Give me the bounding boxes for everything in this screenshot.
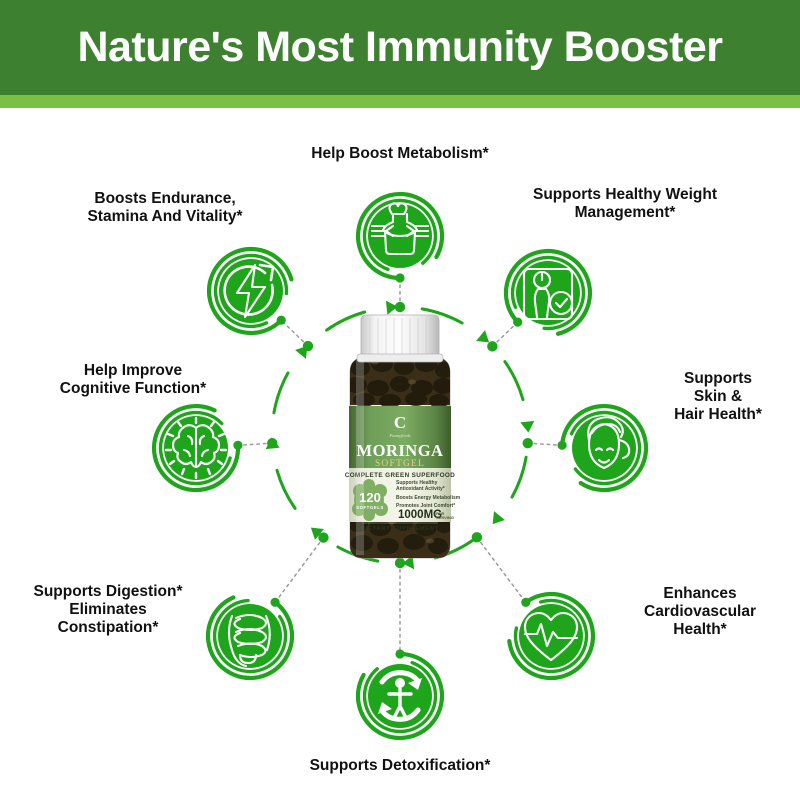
page-title: Nature's Most Immunity Booster — [77, 26, 722, 69]
supplement-type: DIETARY SUPPLEMENT — [361, 526, 439, 532]
infographic-canvas: Nature's Most Immunity Booster — [0, 0, 800, 800]
benefit-label-digestion: Supports Digestion* Eliminates Constipat… — [1, 583, 216, 637]
product-name: MORINGA — [357, 441, 444, 460]
ring-arrowhead-7 — [520, 421, 534, 433]
metabolism-torso-icon[interactable] — [352, 188, 448, 284]
ring-arrowhead-6 — [476, 330, 489, 342]
ring-arc-7 — [505, 362, 523, 400]
ring-arrowhead-3 — [266, 437, 280, 449]
benefit-label-cardiovascular: Enhances Cardiovascular Health* — [605, 585, 795, 639]
benefit-label-detoxification: Supports Detoxification* — [260, 757, 540, 775]
benefit-label-weight-management: Supports Healthy Weight Management* — [495, 186, 755, 222]
product-form: SOFTGEL — [375, 459, 425, 469]
brain-icon[interactable] — [148, 400, 244, 496]
brand-script: Funnyfeeds — [388, 433, 410, 438]
ring-arc-3 — [277, 470, 295, 508]
ring-arrowhead-0 — [493, 511, 505, 524]
header-banner: Nature's Most Immunity Booster — [0, 0, 800, 95]
lightning-bolt-icon[interactable] — [203, 243, 299, 339]
ring-dot-cognitive — [267, 438, 277, 448]
bottle-cap — [361, 315, 439, 359]
brand-mark: C — [394, 413, 406, 432]
dosage-sub-serving: SERVING — [436, 515, 454, 520]
ring-dot-cardiovascular — [472, 532, 482, 542]
header-accent-stripe — [0, 95, 800, 108]
ring-arc-0 — [512, 457, 526, 497]
claim-2: Antioxidant Activity* — [396, 486, 445, 492]
benefit-label-metabolism: Help Boost Metabolism* — [265, 145, 535, 163]
detox-recycle-person-icon[interactable] — [352, 648, 448, 744]
ring-dot-weight-management — [487, 341, 497, 351]
claim-3: Boosts Energy Metabolism* — [396, 495, 460, 501]
heart-pulse-icon[interactable] — [503, 588, 599, 684]
weight-scale-icon[interactable] — [500, 245, 596, 341]
product-bottle: C Funnyfeeds MORINGA SOFTGEL COMPLETE GR… — [340, 310, 460, 560]
ring-arrowhead-2 — [311, 528, 324, 540]
benefit-label-endurance: Boosts Endurance, Stamina And Vitality* — [45, 190, 285, 226]
ring-dot-skin-hair — [523, 438, 533, 448]
intestines-icon[interactable] — [202, 588, 298, 684]
ring-arrowhead-4 — [295, 346, 307, 359]
ring-dot-digestion — [318, 532, 328, 542]
benefit-label-cognitive: Help Improve Cognitive Function* — [23, 362, 243, 398]
ring-dot-endurance — [303, 341, 313, 351]
benefit-label-skin-hair: Supports Skin & Hair Health* — [638, 370, 798, 424]
ring-arc-4 — [274, 373, 288, 413]
